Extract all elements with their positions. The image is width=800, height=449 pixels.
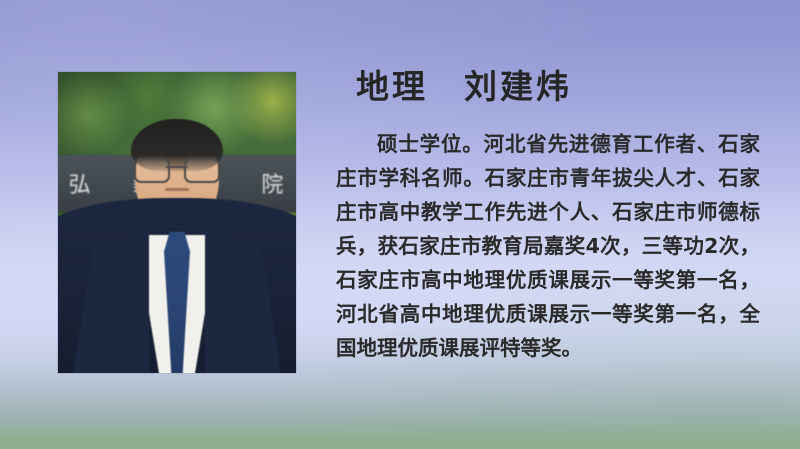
portrait-subject <box>58 72 296 373</box>
presentation-slide: 弘 毅 书 院 <box>0 0 800 449</box>
mouth <box>165 188 189 191</box>
teacher-photo: 弘 毅 书 院 <box>58 72 296 373</box>
lens-right <box>184 158 220 183</box>
eyebrow-left <box>144 152 166 155</box>
eyebrow-right <box>188 152 210 155</box>
page-title: 地理 刘建炜 <box>356 70 572 108</box>
photo-backdrop-plant-wall: 弘 毅 书 院 <box>58 72 296 373</box>
eyeglasses-icon <box>134 158 220 180</box>
lens-left <box>134 158 170 183</box>
biography-paragraph: 硕士学位。河北省先进德育工作者、石家庄市学科名师。石家庄市青年拔尖人才、石家庄市… <box>336 127 760 365</box>
